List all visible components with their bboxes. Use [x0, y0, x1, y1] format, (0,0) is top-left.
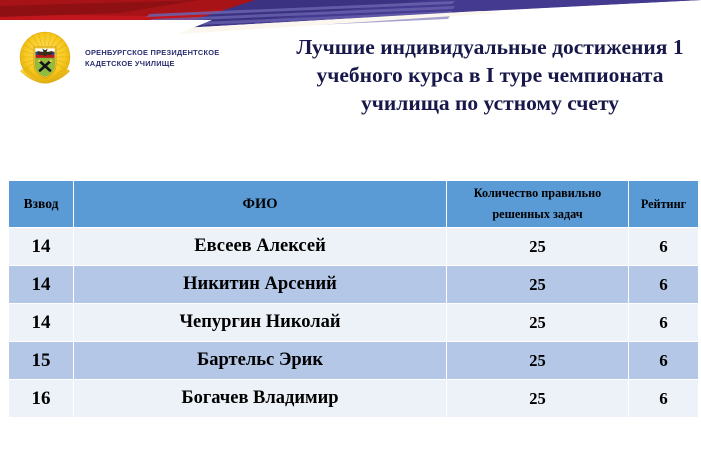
cell-rating: 6: [629, 304, 699, 342]
cell-count: 25: [447, 266, 629, 304]
table-header-row: Взвод ФИО Количество правильно решенных …: [9, 181, 699, 228]
table-row: 14 Никитин Арсений 25 6: [9, 266, 699, 304]
table-body: 14 Евсеев Алексей 25 6 14 Никитин Арсени…: [9, 228, 699, 418]
cell-rating: 6: [629, 228, 699, 266]
column-header-rating: Рейтинг: [629, 181, 699, 228]
school-name-line2: КАДЕТСКОЕ УЧИЛИЩЕ: [85, 59, 175, 68]
cell-vzvod: 15: [9, 342, 74, 380]
cell-count: 25: [447, 342, 629, 380]
orenburg-cadet-school-emblem-icon: [14, 27, 76, 89]
cell-vzvod: 14: [9, 304, 74, 342]
page-title: Лучшие индивидуальные достижения 1 учебн…: [290, 34, 690, 118]
cell-count: 25: [447, 380, 629, 418]
column-header-fio: ФИО: [74, 181, 447, 228]
cell-rating: 6: [629, 342, 699, 380]
results-table: Взвод ФИО Количество правильно решенных …: [8, 180, 699, 418]
table-header: Взвод ФИО Количество правильно решенных …: [9, 181, 699, 228]
cell-fio: Евсеев Алексей: [74, 228, 447, 266]
table-row: 14 Евсеев Алексей 25 6: [9, 228, 699, 266]
table-row: 15 Бартельс Эрик 25 6: [9, 342, 699, 380]
column-header-vzvod: Взвод: [9, 181, 74, 228]
table-row: 16 Богачев Владимир 25 6: [9, 380, 699, 418]
cell-vzvod: 14: [9, 266, 74, 304]
cell-rating: 6: [629, 380, 699, 418]
cell-fio: Никитин Арсений: [74, 266, 447, 304]
results-table-container: Взвод ФИО Количество правильно решенных …: [8, 180, 694, 418]
cell-fio: Богачев Владимир: [74, 380, 447, 418]
cell-count: 25: [447, 304, 629, 342]
cell-fio: Чепургин Николай: [74, 304, 447, 342]
column-header-count: Количество правильно решенных задач: [447, 181, 629, 228]
school-logo: ОРЕНБУРГСКОЕ ПРЕЗИДЕНТСКОЕКАДЕТСКОЕ УЧИЛ…: [14, 27, 264, 89]
cell-vzvod: 14: [9, 228, 74, 266]
cell-rating: 6: [629, 266, 699, 304]
table-row: 14 Чепургин Николай 25 6: [9, 304, 699, 342]
cell-fio: Бартельс Эрик: [74, 342, 447, 380]
school-name-text: ОРЕНБУРГСКОЕ ПРЕЗИДЕНТСКОЕКАДЕТСКОЕ УЧИЛ…: [85, 47, 219, 70]
school-name-line1: ОРЕНБУРГСКОЕ ПРЕЗИДЕНТСКОЕ: [85, 48, 219, 57]
cell-vzvod: 16: [9, 380, 74, 418]
cell-count: 25: [447, 228, 629, 266]
